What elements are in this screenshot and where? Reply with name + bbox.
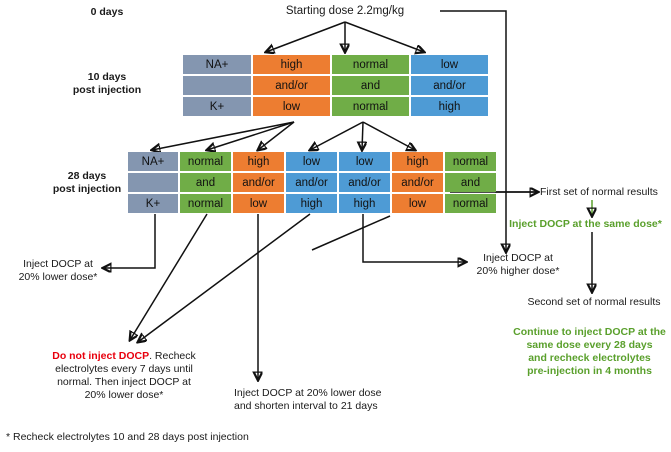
outcome-do-not-inject-line2: electrolytes every 7 days until <box>24 363 224 376</box>
cell-c3-r1: low <box>411 55 488 74</box>
cell-c5-r1: high <box>392 152 443 171</box>
outcome-higher-dose-line1: Inject DOCP at <box>468 252 568 265</box>
cell-c4-r2: and/or <box>339 173 390 192</box>
arrow-start-to-orange <box>266 22 345 52</box>
arrow-green-to-c5 <box>362 122 363 150</box>
footnote: * Recheck electrolytes 10 and 28 days po… <box>6 431 406 444</box>
cell-c3-r3: high <box>411 97 488 116</box>
outcome-shorten-interval-line2: and shorten interval to 21 days <box>234 400 444 413</box>
outcome-shorten-interval-line1: Inject DOCP at 20% lower dose <box>234 387 444 400</box>
cell-c2-r1: normal <box>332 55 409 74</box>
do-not-inject-rest: . Recheck <box>149 350 196 362</box>
cell-c3-r2: and/or <box>286 173 337 192</box>
cell-c1-r2: and <box>180 173 231 192</box>
arrow-c2-to-do-not-inject <box>130 214 207 340</box>
timeline-10-days-line2: post injection <box>52 84 162 97</box>
outcome-continue-line4: pre-injection in 4 months <box>508 365 671 378</box>
row-label-blank <box>128 173 178 192</box>
arrow-orange-to-c3 <box>258 122 294 150</box>
cell-c1-r1: normal <box>180 152 231 171</box>
outcome-same-dose: Inject DOCP at the same dose* <box>500 218 671 231</box>
outcome-lower-dose-left-line1: Inject DOCP at <box>12 258 104 271</box>
cell-c1-r2: and/or <box>253 76 330 95</box>
timeline-10-days-line1: 10 days <box>52 71 162 84</box>
outcome-second-normal-results: Second set of normal results <box>518 296 670 309</box>
row-label-na: NA+ <box>183 55 251 74</box>
arrow-green-to-c6 <box>363 122 415 150</box>
timeline-0-days: 0 days <box>52 6 162 19</box>
cell-c6-r1: normal <box>445 152 496 171</box>
timeline-28-days-line1: 28 days <box>32 170 142 183</box>
cell-c3-r2: and/or <box>411 76 488 95</box>
row-label-k: K+ <box>183 97 251 116</box>
cell-c3-r1: low <box>286 152 337 171</box>
cell-c2-r2: and/or <box>233 173 284 192</box>
timeline-28-days-line2: post injection <box>32 183 142 196</box>
arrow-start-to-blue <box>345 22 424 52</box>
row-label-na: NA+ <box>128 152 178 171</box>
do-not-inject-emphasis: Do not inject DOCP <box>52 350 149 362</box>
outcome-do-not-inject-line3: normal. Then inject DOCP at <box>24 376 224 389</box>
outcome-do-not-inject-line4: 20% lower dose* <box>24 389 224 402</box>
cell-c1-r3: normal <box>180 194 231 213</box>
outcome-continue-line3: and recheck electrolytes <box>508 352 671 365</box>
cell-c3-r3: high <box>286 194 337 213</box>
arrow-green-to-c4 <box>310 122 363 150</box>
flowchart-canvas: 0 days 10 days post injection 28 days po… <box>0 0 671 452</box>
outcome-lower-dose-left-line2: 20% lower dose* <box>12 271 104 284</box>
row-label-k: K+ <box>128 194 178 213</box>
cell-c5-r2: and/or <box>392 173 443 192</box>
outcome-continue-line2: same dose every 28 days <box>508 339 671 352</box>
outcome-higher-dose-line2: 20% higher dose* <box>468 265 568 278</box>
starting-dose-label: Starting dose 2.2mg/kg <box>265 4 425 18</box>
arrow-orange-to-c2 <box>207 122 294 150</box>
cell-c2-r1: high <box>233 152 284 171</box>
cell-c4-r1: low <box>339 152 390 171</box>
cell-c4-r3: high <box>339 194 390 213</box>
cell-c1-r1: high <box>253 55 330 74</box>
cell-c2-r3: low <box>233 194 284 213</box>
arrow-c4-to-do-not-inject <box>138 214 310 342</box>
outcome-continue-line1: Continue to inject DOCP at the <box>508 326 671 339</box>
cell-c6-r2: and <box>445 173 496 192</box>
cell-c2-r2: and <box>332 76 409 95</box>
outcome-first-normal-results: First set of normal results <box>540 186 671 199</box>
seg-c5-diag <box>312 216 390 250</box>
cell-c5-r3: low <box>392 194 443 213</box>
arrow-to-higher-dose <box>363 214 466 262</box>
cell-c6-r3: normal <box>445 194 496 213</box>
cell-c2-r3: normal <box>332 97 409 116</box>
cell-c1-r3: low <box>253 97 330 116</box>
arrow-orange-to-c1 <box>152 122 294 150</box>
outcome-do-not-inject-line1: Do not inject DOCP. Recheck <box>24 350 224 363</box>
arrow-c1-to-lower-dose <box>103 214 155 268</box>
row-label-blank <box>183 76 251 95</box>
